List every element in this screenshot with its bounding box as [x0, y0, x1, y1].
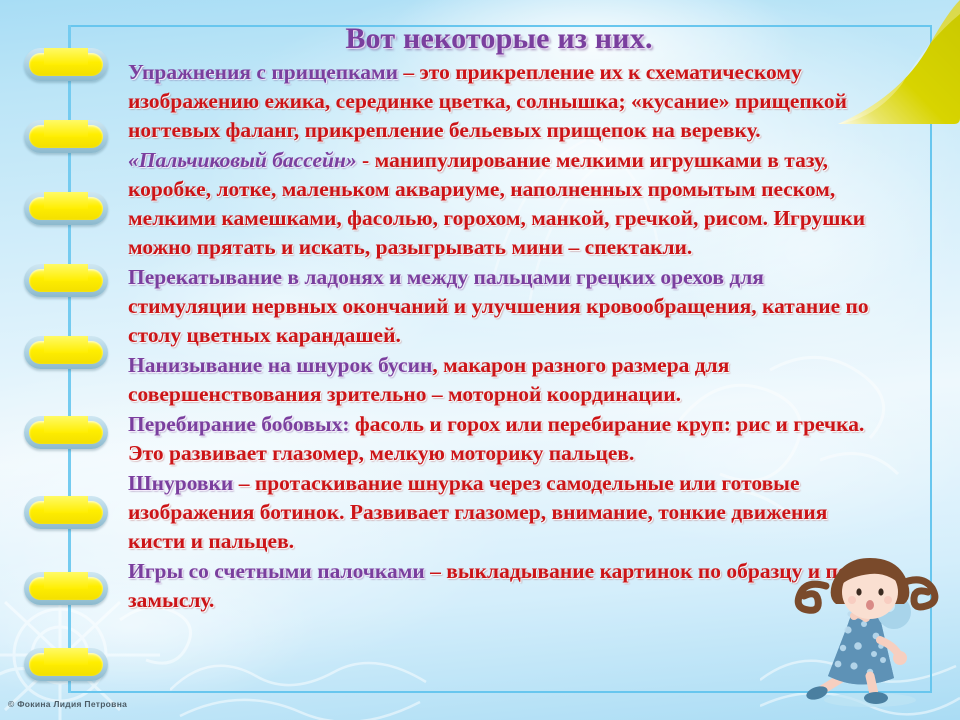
copyright-watermark: © Фокина Лидия Петровна: [8, 699, 127, 709]
body-paragraph: Упражнения с прищепками – это прикреплен…: [128, 58, 870, 145]
bullet-pill: [24, 572, 108, 605]
page-title: Вот некоторые из них.: [128, 22, 870, 56]
bullet-pill: [24, 496, 108, 529]
paragraph-lead: «Пальчиковый бассейн»: [128, 148, 357, 172]
paragraph-lead: Упражнения с прищепками: [128, 60, 398, 84]
body-paragraph: Перебирание бобовых: фасоль и горох или …: [128, 410, 870, 468]
bullet-rail: [0, 0, 125, 720]
bullet-pill: [24, 120, 108, 153]
bullet-pill: [24, 648, 108, 681]
paragraph-rest: стимуляции нервных окончаний и улучшения…: [128, 294, 869, 347]
bullet-pill: [24, 192, 108, 225]
bullet-pill: [24, 48, 108, 81]
bullet-pill: [24, 264, 108, 297]
bullet-pill: [24, 336, 108, 369]
paragraph-lead: Игры со счетными палочками: [128, 559, 425, 583]
snowflake-ornament-icon: [170, 620, 430, 720]
body-paragraph: Нанизывание на шнурок бусин, макарон раз…: [128, 351, 870, 409]
body-paragraph: «Пальчиковый бассейн» - манипулирование …: [128, 146, 870, 262]
paragraph-lead: Нанизывание на шнурок бусин: [128, 353, 432, 377]
paragraph-lead: Шнуровки: [128, 471, 233, 495]
bullet-pill: [24, 416, 108, 449]
body-paragraph: Перекатывание в ладонях и между пальцами…: [128, 263, 870, 350]
slide-canvas: Вот некоторые из них. Упражнения с прище…: [0, 0, 960, 720]
content-column: Вот некоторые из них. Упражнения с прище…: [128, 22, 870, 616]
body-paragraph: Шнуровки – протаскивание шнурка через са…: [128, 469, 870, 556]
body-paragraph: Игры со счетными палочками – выкладывани…: [128, 557, 870, 615]
snowflake-ornament-icon: [760, 620, 960, 720]
paragraph-rest: – протаскивание шнурка через самодельные…: [128, 471, 827, 553]
paragraph-lead: Перебирание бобовых:: [128, 412, 350, 436]
paragraph-lead: Перекатывание в ладонях и между пальцами…: [128, 265, 764, 289]
